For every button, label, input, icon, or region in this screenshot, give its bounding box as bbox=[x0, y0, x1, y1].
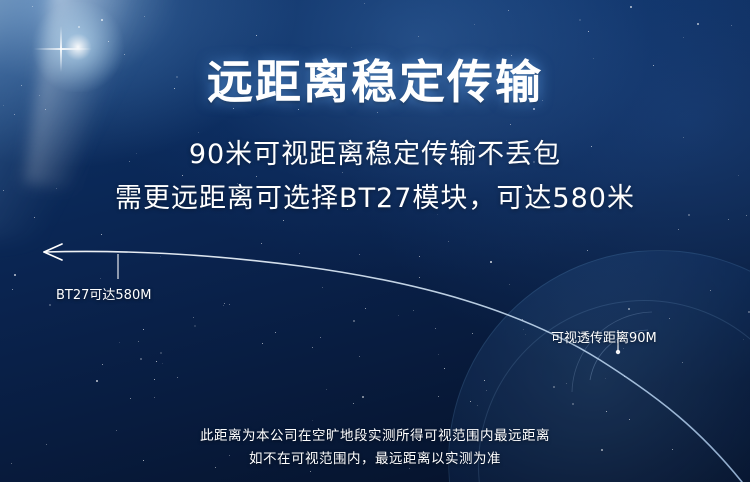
footnote-line-2: 如不在可视范围内，最远距离以实测为准 bbox=[0, 447, 750, 467]
label-visible-distance: 可视透传距离90M bbox=[551, 327, 657, 346]
footnote-line-1: 此距离为本公司在空旷地段实测所得可视范围内最远距离 bbox=[0, 424, 750, 444]
label-bt27-distance: BT27可达580M bbox=[56, 284, 151, 303]
poster-canvas: 远距离稳定传输 90米可视距离稳定传输不丢包 需更远距离可选择BT27模块，可达… bbox=[0, 0, 750, 482]
distance-curve-icon bbox=[0, 0, 750, 482]
